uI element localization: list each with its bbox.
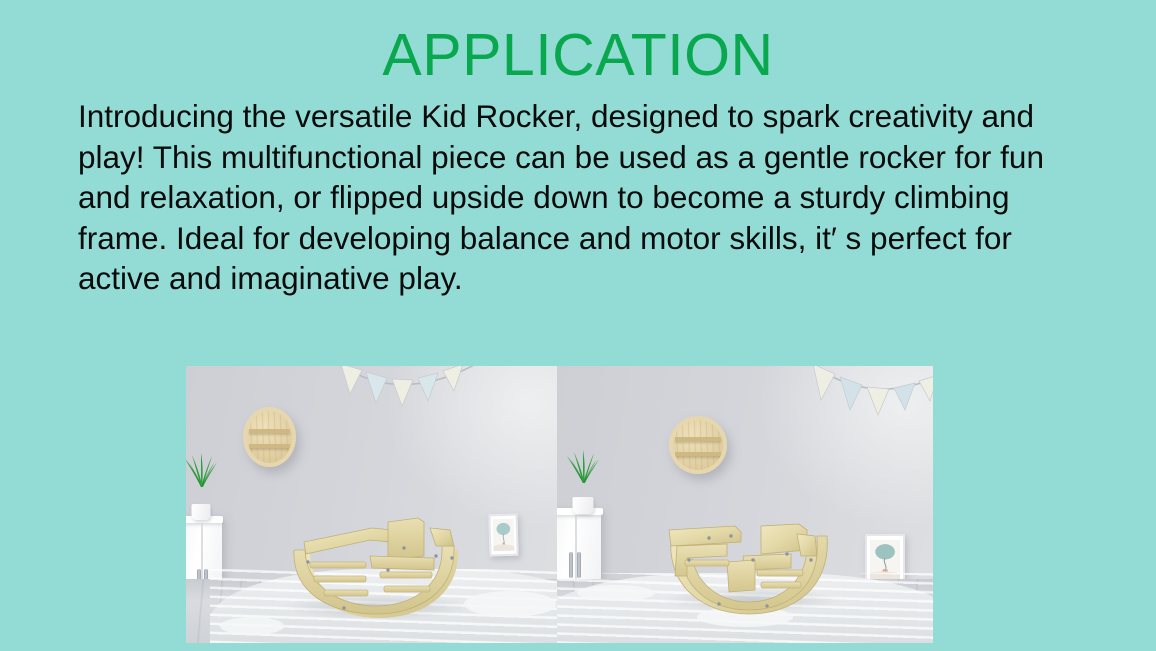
round-wall-shelf (669, 416, 727, 474)
framed-wall-art (488, 514, 518, 557)
potted-plant (565, 462, 601, 514)
wood-grain (673, 420, 723, 470)
plant-leaves-icon (186, 451, 218, 487)
plant-pot (192, 504, 211, 520)
round-wall-shelf (243, 407, 296, 467)
bunting-flags-icon (336, 366, 476, 422)
body-paragraph: Introducing the versatile Kid Rocker, de… (78, 96, 1098, 299)
rug-blob (577, 585, 655, 601)
product-photo-angled (186, 366, 557, 643)
wood-grain (247, 411, 292, 463)
rug-blob (220, 617, 284, 635)
plant-leaves-icon (565, 449, 601, 483)
potted-plant (186, 465, 218, 520)
product-photo-front (557, 366, 933, 643)
presentation-slide: APPLICATION Introducing the versatile Ki… (0, 0, 1156, 651)
wooden-kid-rocker (657, 516, 842, 616)
art-canvas (493, 519, 515, 551)
page-title: APPLICATION (0, 22, 1156, 88)
plant-pot (573, 497, 594, 514)
bunting-flags-icon (809, 366, 933, 422)
product-photo-strip (186, 366, 933, 643)
rug-blob (464, 591, 556, 617)
wooden-kid-rocker (284, 514, 474, 619)
